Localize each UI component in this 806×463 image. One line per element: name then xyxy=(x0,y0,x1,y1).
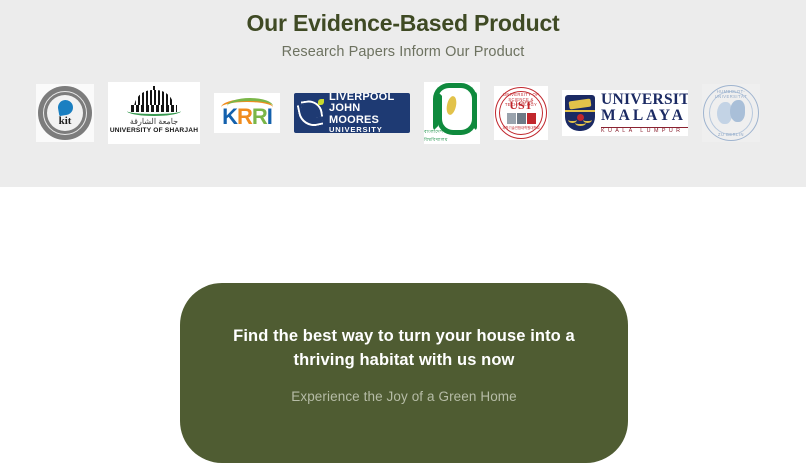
page-subtitle: Research Papers Inform Our Product xyxy=(0,39,806,60)
kit-droplet-icon xyxy=(56,98,73,115)
cta-title: Find the best way to turn your house int… xyxy=(226,325,582,373)
humboldt-bottom-text: ZU BERLIN xyxy=(704,132,758,137)
logo-kit[interactable]: kit xyxy=(36,84,94,142)
logo-bangladesh-open-university[interactable]: বাংলাদেশ উন্মুক্ত বিশ্ববিদ্যালয় xyxy=(424,82,480,144)
malaya-line-3: KUALA LUMPUR xyxy=(601,127,688,134)
interlock-emblem-icon xyxy=(433,83,471,127)
logo-universiti-malaya[interactable]: UNIVERSITI MALAYA KUALA LUMPUR xyxy=(562,90,688,136)
humboldt-top-text: HUMBOLDT-UNIVERSITÄT xyxy=(704,89,758,99)
evidence-section: Our Evidence-Based Product Research Pape… xyxy=(0,0,806,187)
sharjah-arabic-wordmark: جامعة الشارقة xyxy=(130,117,178,126)
malaya-line-2: MALAYA xyxy=(601,108,688,124)
ljmu-swoosh-icon xyxy=(298,98,324,128)
dome-icon xyxy=(127,86,181,116)
krri-swoosh-icon xyxy=(221,98,273,108)
logo-ust[interactable]: UNIVERSITY OF SCIENCE & TECHNOLOGY UST 과… xyxy=(494,86,548,140)
cta-card[interactable]: Find the best way to turn your house int… xyxy=(180,283,628,463)
kit-seal-inner: kit xyxy=(47,95,83,131)
malaya-shield-icon xyxy=(565,95,595,131)
logo-liverpool-john-moores-university[interactable]: LIVERPOOL JOHN MOORES UNIVERSITY xyxy=(294,93,410,133)
ust-ring-text: UNIVERSITY OF SCIENCE & TECHNOLOGY xyxy=(496,92,546,107)
logo-humboldt-universitaet-zu-berlin[interactable]: HUMBOLDT-UNIVERSITÄT ZU BERLIN xyxy=(702,84,760,142)
malaya-line-1: UNIVERSITI xyxy=(601,92,688,108)
kit-seal-ring: kit xyxy=(38,86,92,140)
logo-university-of-sharjah[interactable]: جامعة الشارقة UNIVERSITY OF SHARJAH xyxy=(108,82,200,144)
humboldt-brothers-icon xyxy=(717,99,745,127)
page-title: Our Evidence-Based Product xyxy=(0,0,806,39)
ljmu-line-3: UNIVERSITY xyxy=(329,126,410,133)
sharjah-english-wordmark: UNIVERSITY OF SHARJAH xyxy=(110,127,198,134)
humboldt-seal-ring: HUMBOLDT-UNIVERSITÄT ZU BERLIN xyxy=(703,85,759,141)
kit-wordmark: kit xyxy=(59,116,72,127)
logo-krri[interactable]: KRRI xyxy=(214,93,280,133)
partner-logo-strip: kit جامعة الشارقة UNIVERSITY OF SHARJAH xyxy=(0,72,806,154)
ljmu-line-2: JOHN MOORES xyxy=(329,103,410,126)
cta-subtitle: Experience the Joy of a Green Home xyxy=(226,373,582,404)
malaya-wordmark: UNIVERSITI MALAYA KUALA LUMPUR xyxy=(601,92,688,134)
ust-seal-ring: UNIVERSITY OF SCIENCE & TECHNOLOGY UST 과… xyxy=(495,87,547,139)
ust-books-icon xyxy=(507,113,536,124)
ust-sub-text: 과학기술연합대학원대학교 xyxy=(502,125,539,130)
page-root: Our Evidence-Based Product Research Pape… xyxy=(0,0,806,453)
ljmu-wordmark: LIVERPOOL JOHN MOORES UNIVERSITY xyxy=(329,93,410,133)
